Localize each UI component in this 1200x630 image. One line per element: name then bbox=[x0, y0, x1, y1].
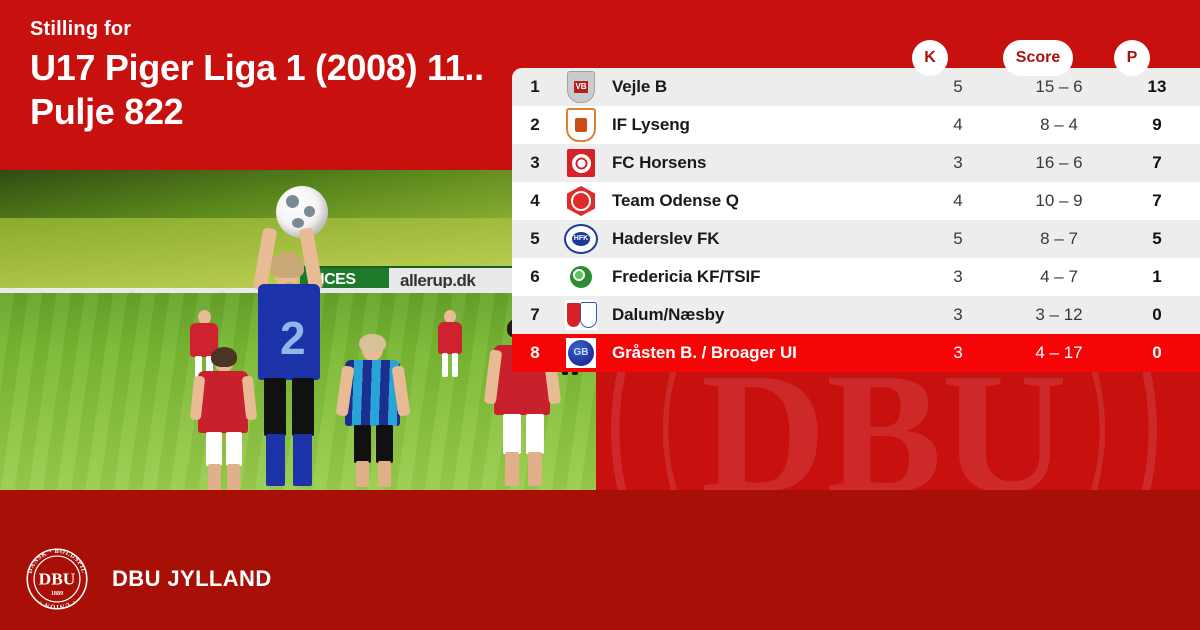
row-goal-score: 8 – 7 bbox=[1004, 229, 1114, 249]
column-header-p: P bbox=[1114, 40, 1150, 76]
column-header-k: K bbox=[912, 40, 948, 76]
table-row[interactable]: 3 FC Horsens 3 16 – 6 7 bbox=[512, 144, 1200, 182]
row-goal-score: 4 – 7 bbox=[1004, 267, 1114, 287]
svg-text:DBU: DBU bbox=[39, 570, 76, 589]
row-team-name[interactable]: Haderslev FK bbox=[604, 229, 912, 249]
fredericia-kf-logo bbox=[558, 262, 604, 292]
row-points: 1 bbox=[1114, 267, 1200, 287]
row-points: 9 bbox=[1114, 115, 1200, 135]
grasten-broager-logo: GB bbox=[558, 338, 604, 368]
row-goal-score: 10 – 9 bbox=[1004, 191, 1114, 211]
row-position: 8 bbox=[512, 343, 558, 363]
footer-organisation-label: DBU JYLLAND bbox=[112, 566, 272, 592]
row-played: 4 bbox=[912, 115, 1004, 135]
svg-text:1889: 1889 bbox=[51, 590, 63, 597]
row-goal-score: 4 – 17 bbox=[1004, 343, 1114, 363]
footer-band-right bbox=[600, 490, 1200, 630]
vejle-b-logo: VB bbox=[558, 71, 604, 103]
footer-block: DANSK · BOLDSPIL · UNION · DBU 1889 DBU … bbox=[26, 548, 272, 610]
page-title: U17 Piger Liga 1 (2008) 11.. Pulje 822 bbox=[30, 46, 550, 134]
table-row[interactable]: 5 HFK Haderslev FK 5 8 – 7 5 bbox=[512, 220, 1200, 258]
row-points: 0 bbox=[1114, 305, 1200, 325]
row-position: 4 bbox=[512, 191, 558, 211]
row-goal-score: 3 – 12 bbox=[1004, 305, 1114, 325]
row-team-name[interactable]: IF Lyseng bbox=[604, 115, 912, 135]
row-position: 6 bbox=[512, 267, 558, 287]
row-position: 2 bbox=[512, 115, 558, 135]
page-title-line1: U17 Piger Liga 1 (2008) 11.. bbox=[30, 46, 550, 90]
row-position: 3 bbox=[512, 153, 558, 173]
column-header-score: Score bbox=[1003, 40, 1073, 76]
row-goal-score: 16 – 6 bbox=[1004, 153, 1114, 173]
table-row[interactable]: 7 Dalum/Næsby 3 3 – 12 0 bbox=[512, 296, 1200, 334]
table-row[interactable]: 6 Fredericia KF/TSIF 3 4 – 7 1 bbox=[512, 258, 1200, 296]
row-position: 7 bbox=[512, 305, 558, 325]
row-points: 0 bbox=[1114, 343, 1200, 363]
row-position: 5 bbox=[512, 229, 558, 249]
haderslev-fk-logo: HFK bbox=[558, 224, 604, 254]
row-points: 5 bbox=[1114, 229, 1200, 249]
row-played: 3 bbox=[912, 267, 1004, 287]
row-played: 5 bbox=[912, 229, 1004, 249]
row-played: 5 bbox=[912, 77, 1004, 97]
dbu-crest-icon: DANSK · BOLDSPIL · UNION · DBU 1889 bbox=[26, 548, 88, 610]
standings-table: 1 VB Vejle B 5 15 – 6 13 2 IF Lyseng 4 8… bbox=[512, 68, 1200, 372]
row-points: 7 bbox=[1114, 153, 1200, 173]
row-played: 3 bbox=[912, 153, 1004, 173]
row-team-name[interactable]: Vejle B bbox=[604, 77, 912, 97]
header-block: Stilling for U17 Piger Liga 1 (2008) 11.… bbox=[30, 18, 550, 134]
row-points: 7 bbox=[1114, 191, 1200, 211]
table-row-highlighted[interactable]: 8 GB Gråsten B. / Broager UI 3 4 – 17 0 bbox=[512, 334, 1200, 372]
svg-text:· UNION ·: · UNION · bbox=[38, 598, 76, 610]
row-played: 3 bbox=[912, 305, 1004, 325]
row-team-name[interactable]: Dalum/Næsby bbox=[604, 305, 912, 325]
row-played: 4 bbox=[912, 191, 1004, 211]
row-team-name[interactable]: Team Odense Q bbox=[604, 191, 912, 211]
table-row[interactable]: 4 Team Odense Q 4 10 – 9 7 bbox=[512, 182, 1200, 220]
match-photo: VICES allerup.dk bbox=[0, 170, 596, 490]
team-odense-q-logo bbox=[558, 186, 604, 216]
page-title-line2: Pulje 822 bbox=[30, 90, 550, 134]
row-team-name[interactable]: FC Horsens bbox=[604, 153, 912, 173]
fc-horsens-logo bbox=[558, 149, 604, 177]
row-team-name[interactable]: Fredericia KF/TSIF bbox=[604, 267, 912, 287]
table-row[interactable]: 2 IF Lyseng 4 8 – 4 9 bbox=[512, 106, 1200, 144]
kicker-label: Stilling for bbox=[30, 18, 550, 40]
row-played: 3 bbox=[912, 343, 1004, 363]
if-lyseng-logo bbox=[558, 108, 604, 142]
row-team-name[interactable]: Gråsten B. / Broager UI bbox=[604, 343, 912, 363]
row-goal-score: 8 – 4 bbox=[1004, 115, 1114, 135]
poster-canvas: DANSK · BOLDSPIL · UNION · DBU 1889 Stil… bbox=[0, 0, 1200, 630]
row-goal-score: 15 – 6 bbox=[1004, 77, 1114, 97]
table-row[interactable]: 1 VB Vejle B 5 15 – 6 13 bbox=[512, 68, 1200, 106]
row-position: 1 bbox=[512, 77, 558, 97]
dalum-naesby-logo bbox=[558, 300, 604, 330]
row-points: 13 bbox=[1114, 77, 1200, 97]
